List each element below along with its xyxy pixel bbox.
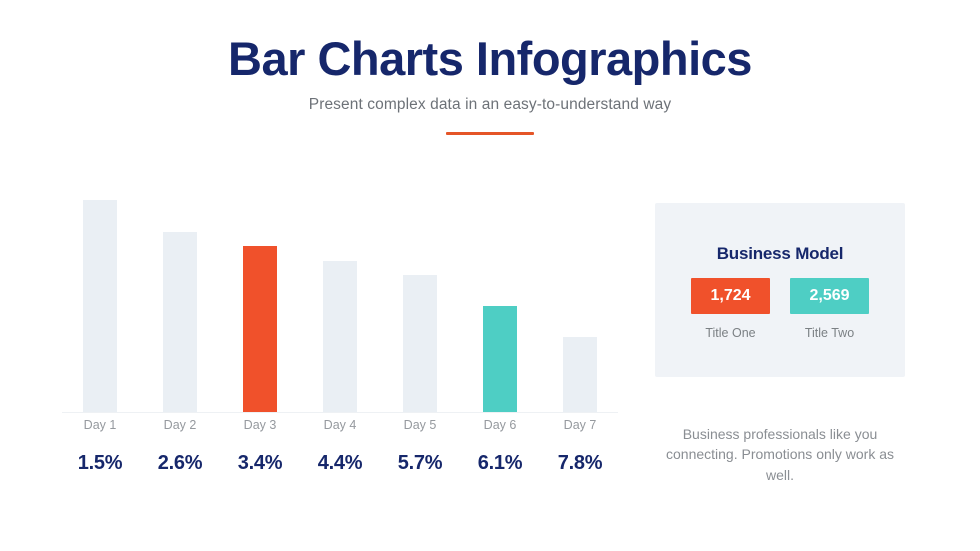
kpi-value-title-two[interactable]: 2,569 xyxy=(790,278,869,314)
bar-column[interactable] xyxy=(323,261,357,412)
value-label-day-3: 3.4% xyxy=(215,452,305,475)
bar-column[interactable] xyxy=(163,232,197,412)
page-title: Bar Charts Infographics xyxy=(0,34,980,85)
card-title: Business Model xyxy=(655,244,905,264)
chart-plot-area xyxy=(62,190,618,413)
bar-day-4[interactable] xyxy=(323,261,357,412)
x-axis-label-day-2: Day 2 xyxy=(140,418,220,432)
x-axis-label-day-4: Day 4 xyxy=(300,418,380,432)
bar-column[interactable] xyxy=(403,275,437,412)
value-label-day-2: 2.6% xyxy=(135,452,225,475)
value-label-day-4: 4.4% xyxy=(295,452,385,475)
value-label-day-5: 5.7% xyxy=(375,452,465,475)
x-axis-label-day-5: Day 5 xyxy=(380,418,460,432)
business-model-card: Business Model 1,724 Title One 2,569 Tit… xyxy=(655,203,905,377)
chart-category-labels: Day 1 Day 2 Day 3 Day 4 Day 5 Day 6 Day … xyxy=(62,418,618,438)
chart-value-labels: 1.5% 2.6% 3.4% 4.4% 5.7% 6.1% 7.8% xyxy=(62,452,618,482)
x-axis-label-day-6: Day 6 xyxy=(460,418,540,432)
kpi-group: 1,724 Title One 2,569 Title Two xyxy=(655,278,905,340)
bar-chart: Day 1 Day 2 Day 3 Day 4 Day 5 Day 6 Day … xyxy=(62,190,618,490)
kpi-caption-title-one: Title One xyxy=(691,326,770,340)
bar-day-6[interactable] xyxy=(483,306,517,412)
chart-baseline-axis xyxy=(62,412,618,413)
bar-column[interactable] xyxy=(83,200,117,412)
x-axis-label-day-3: Day 3 xyxy=(220,418,300,432)
bar-day-5[interactable] xyxy=(403,275,437,412)
bar-column[interactable] xyxy=(243,246,277,412)
bar-column[interactable] xyxy=(563,337,597,412)
slide-canvas: Bar Charts Infographics Present complex … xyxy=(0,0,980,551)
page-subtitle: Present complex data in an easy-to-under… xyxy=(0,96,980,114)
bar-column[interactable] xyxy=(483,306,517,412)
kpi-title-two[interactable]: 2,569 Title Two xyxy=(790,278,869,340)
x-axis-label-day-7: Day 7 xyxy=(540,418,620,432)
kpi-title-one[interactable]: 1,724 Title One xyxy=(691,278,770,340)
bar-day-1[interactable] xyxy=(83,200,117,412)
value-label-day-1: 1.5% xyxy=(55,452,145,475)
value-label-day-6: 6.1% xyxy=(455,452,545,475)
body-paragraph: Business professionals like you connecti… xyxy=(655,424,905,485)
value-label-day-7: 7.8% xyxy=(535,452,625,475)
bar-day-3[interactable] xyxy=(243,246,277,412)
kpi-value-title-one[interactable]: 1,724 xyxy=(691,278,770,314)
slide-header: Bar Charts Infographics Present complex … xyxy=(0,34,980,135)
bar-day-2[interactable] xyxy=(163,232,197,412)
accent-divider xyxy=(446,132,534,136)
kpi-caption-title-two: Title Two xyxy=(790,326,869,340)
bar-day-7[interactable] xyxy=(563,337,597,412)
x-axis-label-day-1: Day 1 xyxy=(60,418,140,432)
